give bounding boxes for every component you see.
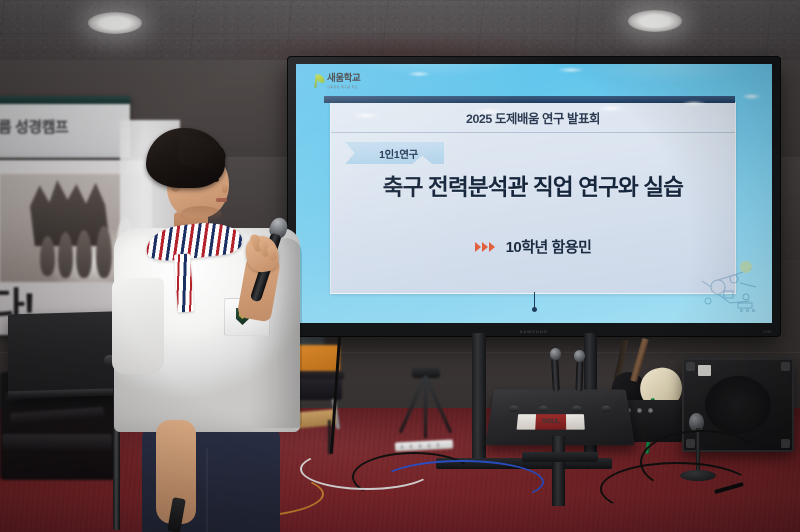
wall-mounted-tv[interactable]: 새움학교 교육과정 재구성 학교 2025 도제배움 연구 발표회 1인1연구 … <box>288 57 780 336</box>
amp-knob <box>637 408 642 413</box>
gear-bar-3 <box>2 434 112 450</box>
floor-cable-black-3 <box>640 430 764 494</box>
slide-header: 2025 도제배움 연구 발표회 <box>331 103 735 133</box>
downlight-right-icon <box>628 10 682 32</box>
slide-pointer-line <box>534 292 535 310</box>
photo-scene: 름 성경캠프 다! 새움학교 교육과정 재구성 학교 <box>0 0 800 532</box>
gear-bar-2 <box>10 407 104 424</box>
slide-title: 축구 전력분석관 직업 연구와 실습 <box>331 170 735 202</box>
light-reflection-6 <box>408 72 430 76</box>
slide-ribbon: 1인1연구 <box>345 142 444 164</box>
tray-microphone-2 <box>575 360 583 392</box>
light-reflection-5 <box>742 94 761 99</box>
slide-content-card: 2025 도제배움 연구 발표회 1인1연구 축구 전력분석관 직업 연구와 실… <box>330 102 736 294</box>
chevron-right-icon <box>475 242 495 252</box>
mic-clip-4 <box>601 406 612 412</box>
photo-person-1 <box>40 236 55 276</box>
school-name: 새움학교 <box>327 74 360 84</box>
amp-knob <box>648 408 653 413</box>
mic-clip-2 <box>538 406 548 412</box>
presenting-student <box>118 128 308 532</box>
tray-brand-label: SOUL <box>517 414 585 429</box>
tray-microphone-1-head <box>550 348 561 360</box>
mic-clip-3 <box>572 406 582 412</box>
tripod-leg-right <box>399 375 427 433</box>
slide-header-text: 2025 도제배움 연구 발표회 <box>466 109 600 127</box>
slide-ribbon-text: 1인1연구 <box>379 146 418 161</box>
tv-stand-pole-left <box>472 333 486 466</box>
logo-text-block: 새움학교 교육과정 재구성 학교 <box>327 74 360 89</box>
floor-cable-white-1 <box>300 448 434 490</box>
slide-presenter-name: 10학년 함용민 <box>506 236 592 257</box>
tripod-leg-center <box>424 376 427 438</box>
wall-banner-top: 름 성경캠프 <box>0 96 130 158</box>
tv-screen[interactable]: 새움학교 교육과정 재구성 학교 2025 도제배움 연구 발표회 1인1연구 … <box>296 64 772 323</box>
slide-presenter-row: 10학년 함용민 <box>331 236 735 257</box>
cabinet-corner-br <box>781 439 790 448</box>
light-reflection-7 <box>558 68 584 72</box>
photo-person-4 <box>96 226 112 278</box>
camera-tripod <box>400 368 452 442</box>
banner-rail <box>0 96 130 104</box>
tv-brand-logo: SAMSUNG <box>520 329 549 334</box>
tray-microphone-2-head <box>574 350 585 362</box>
mic-clip-1 <box>508 406 519 412</box>
tv-corner-mark: UHD <box>763 330 772 334</box>
downlight-left-icon <box>88 12 142 34</box>
photo-person-2 <box>58 232 73 278</box>
tray-stand-leg <box>552 436 565 506</box>
tripod-leg-left <box>424 375 452 433</box>
slide-school-logo: 새움학교 교육과정 재구성 학교 <box>312 73 360 89</box>
trouser-seam <box>206 448 208 532</box>
wall-banner-top-text: 름 성경캠프 <box>0 116 68 137</box>
cabinet-badge <box>698 365 711 376</box>
slide-top-bar <box>324 96 735 103</box>
cabinet-corner-tr <box>781 362 790 371</box>
school-tagline: 교육과정 재구성 학교 <box>327 85 360 89</box>
shirt-sleeve-left <box>112 278 164 374</box>
tray-stand-foot <box>522 452 598 462</box>
slide-decoration-graphic <box>694 257 766 315</box>
student-nose <box>222 184 228 193</box>
student-mouth <box>216 198 227 202</box>
student-jaw-shadow <box>180 206 222 222</box>
cabinet-corner-tl <box>686 362 695 371</box>
sprout-icon <box>312 73 325 89</box>
tray-label-text: SOUL <box>541 419 560 425</box>
